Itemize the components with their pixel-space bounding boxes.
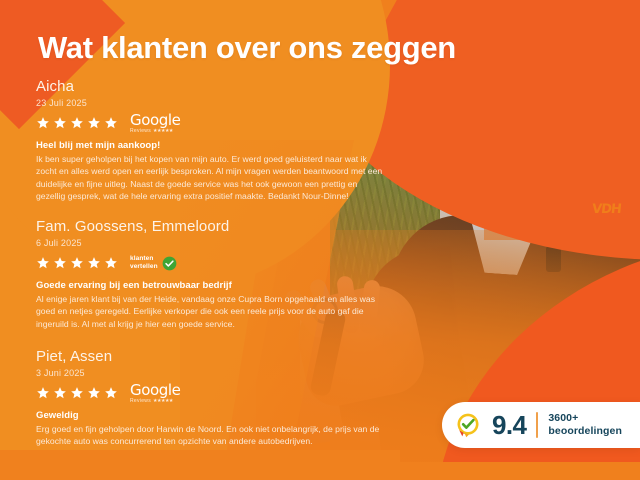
- mini-star-row: ★★★★★: [153, 129, 173, 134]
- reviewer-name: Aicha: [36, 78, 416, 96]
- klantenvertellen-line-2: vertellen: [130, 263, 158, 270]
- reviews-banner: VDH Wat klanten over ons zeggen Aicha 23…: [0, 0, 640, 480]
- star-icon: [53, 386, 67, 400]
- star-icon: [104, 116, 118, 130]
- star-icon: [70, 256, 84, 270]
- review-date: 6 Juli 2025: [36, 237, 416, 250]
- review-meta: klanten vertellen: [36, 253, 416, 273]
- star-icon: [87, 256, 101, 270]
- review-date: 23 Juli 2025: [36, 97, 416, 110]
- review-title: Heel blij met mijn aankoop!: [36, 140, 416, 151]
- rating-divider: [536, 412, 538, 438]
- star-icon: [87, 386, 101, 400]
- mini-star-row: ★★★★★: [153, 399, 173, 404]
- star-rating: [36, 116, 118, 130]
- reviewer-name: Piet, Assen: [36, 348, 416, 366]
- rating-count-unit: beoordelingen: [548, 425, 622, 437]
- star-rating: [36, 386, 118, 400]
- check-circle-icon: [162, 256, 177, 271]
- star-icon: [104, 386, 118, 400]
- star-icon: [53, 116, 67, 130]
- google-reviews-subtitle: Reviews ★★★★★: [130, 399, 181, 404]
- star-rating: [36, 256, 118, 270]
- google-reviews-subtitle: Reviews ★★★★★: [130, 129, 181, 134]
- rating-score: 9.4: [492, 412, 526, 438]
- star-icon: [36, 386, 50, 400]
- banner-content: Wat klanten over ons zeggen Aicha 23 Jul…: [0, 0, 640, 480]
- google-reviews-badge: Google Reviews ★★★★★: [130, 113, 181, 134]
- review-card: Aicha 23 Juli 2025 Google Reviews ★★★★★: [36, 78, 416, 203]
- star-icon: [36, 256, 50, 270]
- google-logo-text: Google: [130, 113, 181, 128]
- reviewer-name: Fam. Goossens, Emmeloord: [36, 218, 416, 236]
- google-logo-text: Google: [130, 383, 181, 398]
- star-icon: [87, 116, 101, 130]
- star-icon: [70, 386, 84, 400]
- review-title: Goede ervaring bij een betrouwbaar bedri…: [36, 280, 416, 291]
- kiyoh-check-icon: [454, 411, 482, 439]
- rating-count: 3600+ beoordelingen: [548, 412, 622, 438]
- review-meta: Google Reviews ★★★★★: [36, 383, 416, 403]
- review-date: 3 Juni 2025: [36, 367, 416, 380]
- overall-rating-badge[interactable]: 9.4 3600+ beoordelingen: [442, 402, 640, 448]
- google-reviews-label: Reviews: [130, 129, 151, 134]
- klantenvertellen-badge: klanten vertellen: [130, 255, 177, 271]
- review-body: Ik ben super geholpen bij het kopen van …: [36, 153, 388, 203]
- klantenvertellen-line-1: klanten: [130, 255, 153, 262]
- star-icon: [104, 256, 118, 270]
- review-title: Geweldig: [36, 410, 416, 421]
- page-title: Wat klanten over ons zeggen: [38, 30, 456, 66]
- star-icon: [70, 116, 84, 130]
- review-body: Al enige jaren klant bij van der Heide, …: [36, 293, 388, 330]
- google-reviews-label: Reviews: [130, 399, 151, 404]
- rating-count-number: 3600+: [548, 412, 578, 424]
- google-reviews-badge: Google Reviews ★★★★★: [130, 383, 181, 404]
- review-card: Fam. Goossens, Emmeloord 6 Juli 2025 kla…: [36, 218, 416, 330]
- klantenvertellen-wordmark: klanten vertellen: [130, 255, 158, 271]
- review-body: Erg goed en fijn geholpen door Harwin de…: [36, 423, 388, 448]
- review-meta: Google Reviews ★★★★★: [36, 113, 416, 133]
- star-icon: [53, 256, 67, 270]
- review-card: Piet, Assen 3 Juni 2025 Google Reviews ★…: [36, 348, 416, 448]
- star-icon: [36, 116, 50, 130]
